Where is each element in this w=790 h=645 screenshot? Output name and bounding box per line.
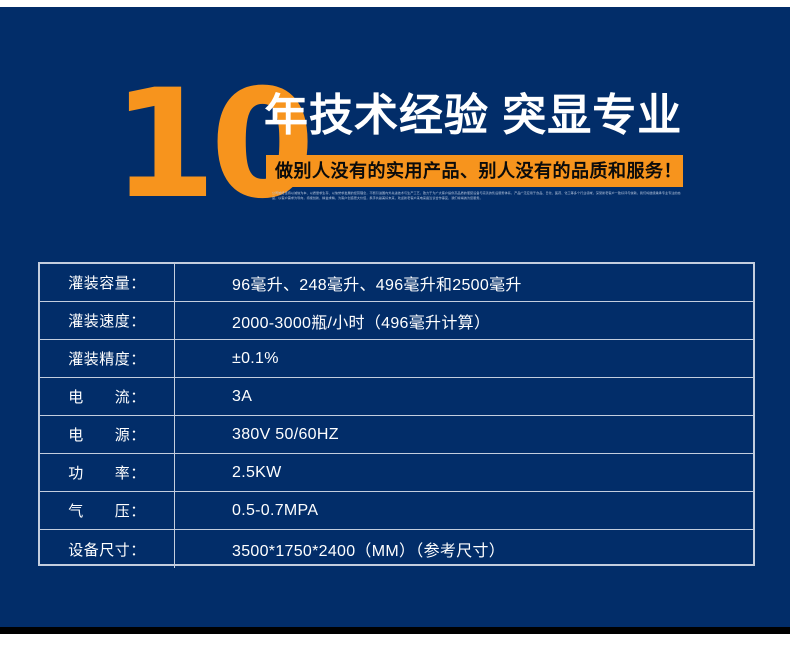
table-row: 灌装容量： 96毫升、248毫升、496毫升和2500毫升 (40, 264, 753, 302)
spec-label: 设备尺寸： (40, 530, 175, 568)
table-row: 气 压： 0.5-0.7MPA (40, 492, 753, 530)
product-spec-page: 10 年技术经验 突显专业 做别人没有的实用产品、别人没有的品质和服务！ 公司始… (0, 0, 790, 645)
table-row: 设备尺寸： 3500*1750*2400（MM）（参考尺寸） (40, 530, 753, 568)
specification-table: 灌装容量： 96毫升、248毫升、496毫升和2500毫升 灌装速度： 2000… (38, 262, 755, 566)
hero-fineprint-text: 公司始终坚持以诚信为本、以质量求生存、以信誉求发展的经营理念，不断引进国内外先进… (272, 191, 684, 209)
bottom-white-strip (0, 634, 790, 645)
table-row: 灌装精度： ±0.1% (40, 340, 753, 378)
spec-label: 灌装速度： (40, 302, 175, 339)
spec-value: 3A (175, 378, 753, 415)
spec-value: 0.5-0.7MPA (175, 492, 753, 529)
spec-label: 功 率： (40, 454, 175, 491)
hero-section: 10 年技术经验 突显专业 做别人没有的实用产品、别人没有的品质和服务！ 公司始… (0, 7, 790, 222)
table-row: 功 率： 2.5KW (40, 454, 753, 492)
table-row: 灌装速度： 2000-3000瓶/小时（496毫升计算） (40, 302, 753, 340)
spec-value: 380V 50/60HZ (175, 416, 753, 453)
spec-value: 2000-3000瓶/小时（496毫升计算） (175, 302, 753, 339)
table-row: 电 源： 380V 50/60HZ (40, 416, 753, 454)
hero-headline: 年技术经验 突显专业 (264, 90, 682, 142)
spec-value: 96毫升、248毫升、496毫升和2500毫升 (175, 264, 753, 301)
spec-value: 2.5KW (175, 454, 753, 491)
top-white-strip (0, 0, 790, 7)
table-row: 电 流： 3A (40, 378, 753, 416)
hero-slogan-banner: 做别人没有的实用产品、别人没有的品质和服务！ (266, 155, 683, 187)
hero-slogan-text: 做别人没有的实用产品、别人没有的品质和服务！ (275, 161, 682, 181)
spec-label: 灌装精度： (40, 340, 175, 377)
spec-value: 3500*1750*2400（MM）（参考尺寸） (175, 530, 753, 568)
spec-label: 灌装容量： (40, 264, 175, 301)
spec-label: 气 压： (40, 492, 175, 529)
spec-label: 电 流： (40, 378, 175, 415)
spec-label: 电 源： (40, 416, 175, 453)
bottom-black-rule (0, 627, 790, 634)
spec-value: ±0.1% (175, 340, 753, 377)
